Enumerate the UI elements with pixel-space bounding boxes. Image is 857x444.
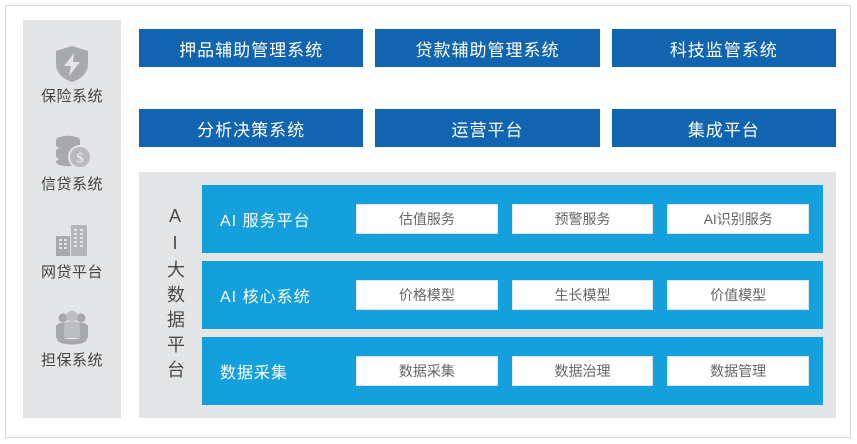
platform-layer-ai-core[interactable]: AI 核心系统 价格模型 生长模型 价值模型 [202,261,823,329]
system-bar-tech-supervision[interactable]: 科技监管系统 [612,29,836,67]
chip-price-model[interactable]: 价格模型 [356,280,498,310]
layer-title: AI 服务平台 [220,207,356,231]
chip-data-governance[interactable]: 数据治理 [512,356,654,386]
layer-chip-group: 数据采集 数据治理 数据管理 [356,356,823,386]
chip-alert-service[interactable]: 预警服务 [512,204,654,234]
chip-data-collection[interactable]: 数据采集 [356,356,498,386]
chip-ai-recognition-service[interactable]: AI识别服务 [667,204,809,234]
buildings-icon [50,218,94,262]
chip-valuation-service[interactable]: 估值服务 [356,204,498,234]
sidebar-item-credit[interactable]: $ 信贷系统 [23,130,121,218]
content-area: 押品辅助管理系统 贷款辅助管理系统 科技监管系统 分析决策系统 运营平台 集成平… [139,20,836,418]
layer-title: AI 核心系统 [220,283,356,307]
sidebar-item-label: 保险系统 [41,89,103,104]
architecture-diagram: 保险系统 $ 信贷系统 [5,5,851,438]
coins-dollar-icon: $ [50,130,94,174]
platform-layer-stack: AI 服务平台 估值服务 预警服务 AI识别服务 AI 核心系统 价格模型 生长… [202,185,823,405]
svg-text:$: $ [76,151,84,167]
chip-growth-model[interactable]: 生长模型 [512,280,654,310]
people-group-icon [50,306,94,350]
system-bar-analysis-decision[interactable]: 分析决策系统 [139,109,363,147]
platform-layer-data-collection[interactable]: 数据采集 数据采集 数据治理 数据管理 [202,337,823,405]
platform-vertical-label-text: AI大数据平台 [166,206,184,385]
system-bar-loan-management[interactable]: 贷款辅助管理系统 [375,29,599,67]
system-bar-operation-platform[interactable]: 运营平台 [375,109,599,147]
ai-bigdata-platform-panel: AI大数据平台 AI 服务平台 估值服务 预警服务 AI识别服务 AI 核心系统… [139,172,836,418]
top-system-row: 押品辅助管理系统 贷款辅助管理系统 科技监管系统 [139,29,836,67]
sidebar-item-online-loan[interactable]: 网贷平台 [23,218,121,306]
system-bar-integration-platform[interactable]: 集成平台 [612,109,836,147]
layer-title: 数据采集 [220,359,356,383]
shield-bolt-icon [50,42,94,86]
second-system-row: 分析决策系统 运营平台 集成平台 [139,109,836,147]
sidebar-item-label: 信贷系统 [41,177,103,192]
chip-data-management[interactable]: 数据管理 [667,356,809,386]
sidebar-item-guarantee[interactable]: 担保系统 [23,306,121,394]
sidebar-item-insurance[interactable]: 保险系统 [23,42,121,130]
sidebar-item-label: 担保系统 [41,353,103,368]
chip-value-model[interactable]: 价值模型 [667,280,809,310]
layer-chip-group: 价格模型 生长模型 价值模型 [356,280,823,310]
system-bar-collateral-management[interactable]: 押品辅助管理系统 [139,29,363,67]
platform-vertical-label: AI大数据平台 [148,185,202,405]
sidebar-item-label: 网贷平台 [41,265,103,280]
sidebar: 保险系统 $ 信贷系统 [23,20,121,418]
layer-chip-group: 估值服务 预警服务 AI识别服务 [356,204,823,234]
platform-layer-ai-service[interactable]: AI 服务平台 估值服务 预警服务 AI识别服务 [202,185,823,253]
